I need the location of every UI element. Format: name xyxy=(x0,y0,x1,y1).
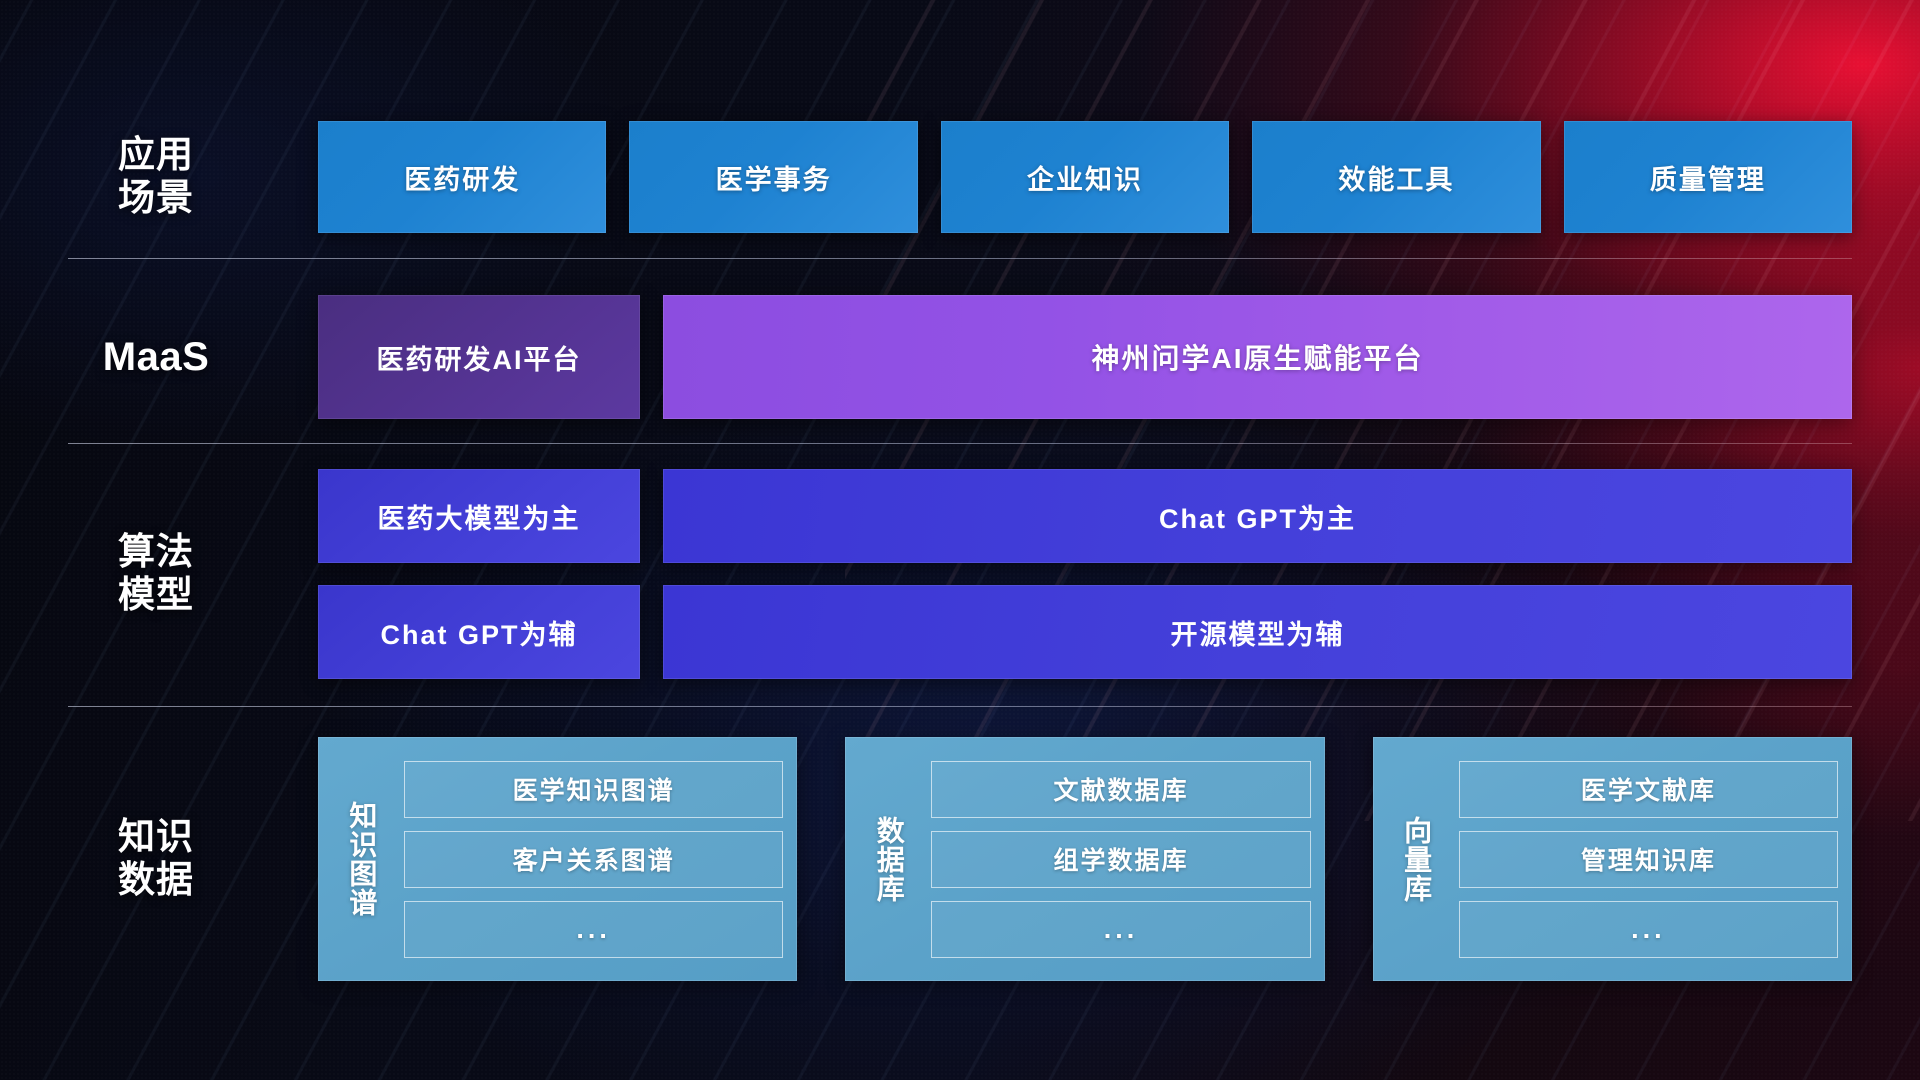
slide-canvas: 应用 场景 医药研发 医学事务 企业知识 效能工具 质量管理 MaaS 医药研发… xyxy=(0,0,1920,1080)
maas-box-label: 医药研发AI平台 xyxy=(377,338,582,377)
algo-box-label: Chat GPT为主 xyxy=(1159,497,1356,536)
knowledge-item-more[interactable]: ... xyxy=(931,901,1310,958)
application-scenario-boxes: 医药研发 医学事务 企业知识 效能工具 质量管理 xyxy=(244,121,1852,233)
divider-maas-algorithm xyxy=(68,443,1852,444)
app-box-label: 企业知识 xyxy=(1027,158,1143,197)
divider-algorithm-knowledge xyxy=(68,706,1852,707)
app-box-label: 效能工具 xyxy=(1338,158,1454,197)
algo-box-label: 开源模型为辅 xyxy=(1171,613,1345,652)
knowledge-item-medical-literature-store[interactable]: 医学文献库 xyxy=(1459,761,1838,818)
app-box-label: 质量管理 xyxy=(1650,158,1766,197)
knowledge-group-category-label: 知识图谱 xyxy=(318,750,404,968)
app-box-medical-affairs[interactable]: 医学事务 xyxy=(629,121,917,233)
app-box-label: 医学事务 xyxy=(716,158,832,197)
row-label-maas: MaaS xyxy=(68,334,244,380)
app-box-enterprise-knowledge[interactable]: 企业知识 xyxy=(941,121,1229,233)
divider-application-maas xyxy=(68,258,1852,259)
knowledge-group-category-label: 向量库 xyxy=(1373,750,1459,968)
maas-box-label: 神州问学AI原生赋能平台 xyxy=(1091,337,1423,377)
row-label-algorithm-model: 算法 模型 xyxy=(68,531,244,617)
knowledge-item-management-knowledge-store[interactable]: 管理知识库 xyxy=(1459,831,1838,888)
knowledge-item-more[interactable]: ... xyxy=(404,901,783,958)
knowledge-groups: 知识图谱 医学知识图谱 客户关系图谱 ... 数据库 文献数据库 组学数据库 .… xyxy=(244,737,1852,981)
knowledge-item-customer-relation-graph[interactable]: 客户关系图谱 xyxy=(404,831,783,888)
knowledge-item-medical-knowledge-graph[interactable]: 医学知识图谱 xyxy=(404,761,783,818)
algo-box-label: Chat GPT为辅 xyxy=(380,613,577,652)
row-knowledge-data: 知识 数据 知识图谱 医学知识图谱 客户关系图谱 ... 数据库 文献数据库 组… xyxy=(68,726,1852,992)
knowledge-group-knowledge-graph[interactable]: 知识图谱 医学知识图谱 客户关系图谱 ... xyxy=(318,737,797,981)
row-label-knowledge-data: 知识 数据 xyxy=(68,816,244,902)
architecture-diagram: 应用 场景 医药研发 医学事务 企业知识 效能工具 质量管理 MaaS 医药研发… xyxy=(68,0,1852,1080)
knowledge-group-items: 医学文献库 管理知识库 ... xyxy=(1459,750,1838,968)
maas-boxes: 医药研发AI平台 神州问学AI原生赋能平台 xyxy=(244,295,1852,419)
knowledge-item-more[interactable]: ... xyxy=(1459,901,1838,958)
algo-box-chatgpt-primary[interactable]: Chat GPT为主 xyxy=(663,469,1852,563)
algo-box-label: 医药大模型为主 xyxy=(378,497,581,536)
knowledge-item-literature-database[interactable]: 文献数据库 xyxy=(931,761,1310,818)
app-box-efficiency-tools[interactable]: 效能工具 xyxy=(1252,121,1540,233)
row-application-scenarios: 应用 场景 医药研发 医学事务 企业知识 效能工具 质量管理 xyxy=(68,110,1852,244)
row-algorithm-model: 算法 模型 医药大模型为主 Chat GPT为主 Chat GPT为辅 开源模型… xyxy=(68,458,1852,690)
app-box-quality-management[interactable]: 质量管理 xyxy=(1564,121,1852,233)
knowledge-group-vector-store[interactable]: 向量库 医学文献库 管理知识库 ... xyxy=(1373,737,1852,981)
app-box-label: 医药研发 xyxy=(404,158,520,197)
algo-box-opensource-secondary[interactable]: 开源模型为辅 xyxy=(663,585,1852,679)
knowledge-group-items: 文献数据库 组学数据库 ... xyxy=(931,750,1310,968)
algorithm-secondary-line: Chat GPT为辅 开源模型为辅 xyxy=(318,585,1852,679)
knowledge-group-items: 医学知识图谱 客户关系图谱 ... xyxy=(404,750,783,968)
maas-box-shenzhou-wenxue-platform[interactable]: 神州问学AI原生赋能平台 xyxy=(663,295,1852,419)
row-maas: MaaS 医药研发AI平台 神州问学AI原生赋能平台 xyxy=(68,285,1852,429)
algorithm-primary-line: 医药大模型为主 Chat GPT为主 xyxy=(318,469,1852,563)
maas-box-drug-rd-ai-platform[interactable]: 医药研发AI平台 xyxy=(318,295,640,419)
knowledge-group-database[interactable]: 数据库 文献数据库 组学数据库 ... xyxy=(845,737,1324,981)
knowledge-group-category-label: 数据库 xyxy=(845,750,931,968)
row-label-application-scenarios: 应用 场景 xyxy=(68,134,244,220)
knowledge-item-omics-database[interactable]: 组学数据库 xyxy=(931,831,1310,888)
algorithm-model-boxes: 医药大模型为主 Chat GPT为主 Chat GPT为辅 开源模型为辅 xyxy=(244,469,1852,679)
app-box-drug-rd[interactable]: 医药研发 xyxy=(318,121,606,233)
algo-box-pharma-llm-primary[interactable]: 医药大模型为主 xyxy=(318,469,640,563)
algo-box-chatgpt-secondary[interactable]: Chat GPT为辅 xyxy=(318,585,640,679)
